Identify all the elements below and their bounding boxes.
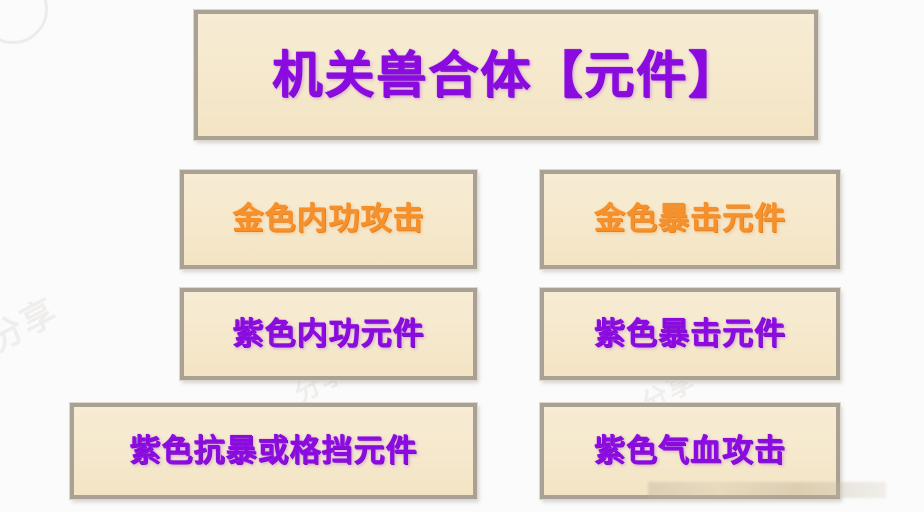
component-label: 紫色暴击元件 [594,319,786,350]
watermark-ring [0,0,48,44]
component-label: 紫色气血攻击 [594,436,786,467]
component-label: 紫色内功元件 [233,319,425,350]
component-plaque-row1-right: 金色暴击元件 [540,170,840,269]
component-plaque-row3-left: 紫色抗暴或格挡元件 [70,403,477,499]
title-plaque: 机关兽合体【元件】 [194,10,818,140]
page-title: 机关兽合体【元件】 [272,50,740,100]
component-plaque-row2-right: 紫色暴击元件 [540,288,840,380]
component-plaque-row1-left: 金色内功攻击 [180,170,477,269]
component-label: 紫色抗暴或格挡元件 [130,436,418,467]
component-label: 金色暴击元件 [594,204,786,235]
component-label: 金色内功攻击 [233,204,425,235]
component-plaque-row3-right: 紫色气血攻击 [540,403,840,499]
watermark-text-a: 分享 [0,284,65,361]
component-plaque-row2-left: 紫色内功元件 [180,288,477,380]
